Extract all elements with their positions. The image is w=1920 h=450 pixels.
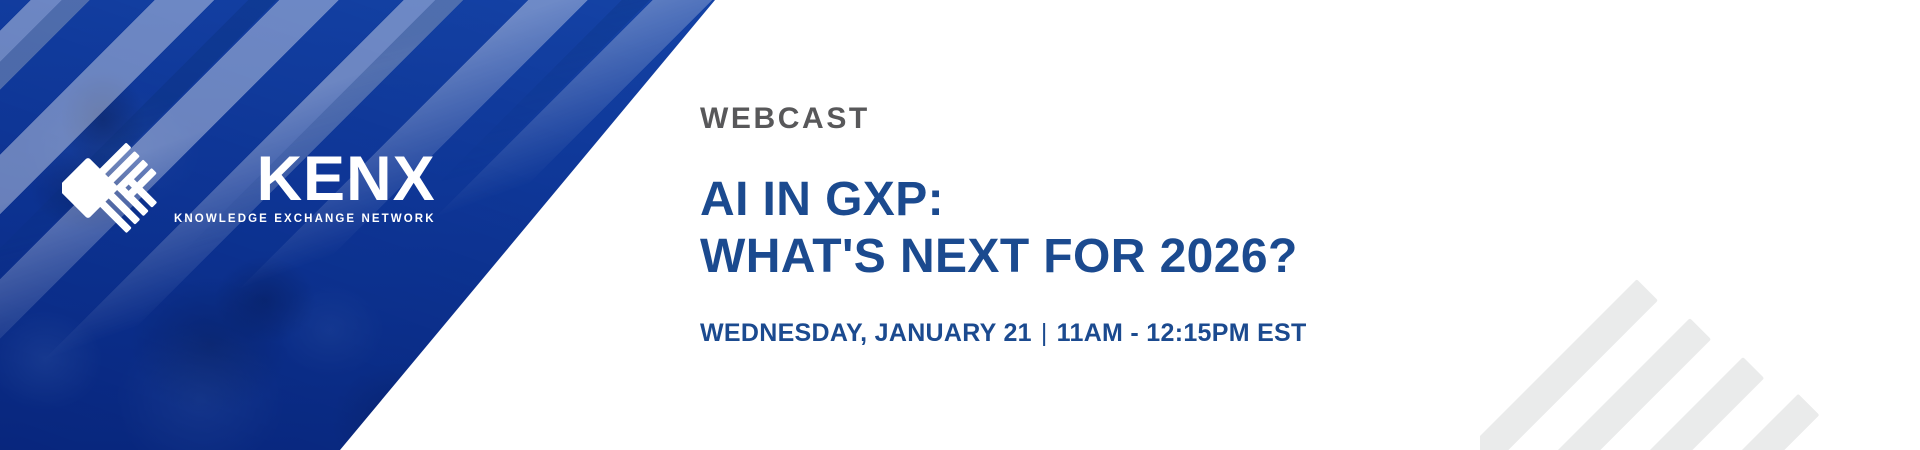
kenx-wordmark: KENX [257, 151, 436, 209]
title-line-1: AI IN GXP: [700, 172, 1307, 229]
kenx-x-mark-icon [62, 140, 158, 236]
datetime-separator: | [1032, 319, 1057, 347]
banner-content: WEBCAST AI IN GXP: WHAT'S NEXT FOR 2026?… [700, 0, 1307, 450]
event-datetime: WEDNESDAY, JANUARY 21|11AM - 12:15PM EST [700, 319, 1307, 348]
event-date: WEDNESDAY, JANUARY 21 [700, 319, 1032, 347]
corner-gray-stripes-decoration [1480, 230, 1920, 450]
page-title: AI IN GXP: WHAT'S NEXT FOR 2026? [700, 172, 1307, 285]
kenx-logo[interactable]: KENX KNOWLEDGE EXCHANGE NETWORK [62, 140, 436, 236]
content-type-label: WEBCAST [700, 102, 1307, 136]
kenx-logo-text: KENX KNOWLEDGE EXCHANGE NETWORK [174, 151, 436, 226]
webcast-promo-banner: KENX KNOWLEDGE EXCHANGE NETWORK WEBCAST … [0, 0, 1920, 450]
event-time: 11AM - 12:15PM EST [1057, 319, 1307, 347]
title-line-2: WHAT'S NEXT FOR 2026? [700, 229, 1307, 286]
kenx-tagline: KNOWLEDGE EXCHANGE NETWORK [174, 213, 436, 225]
